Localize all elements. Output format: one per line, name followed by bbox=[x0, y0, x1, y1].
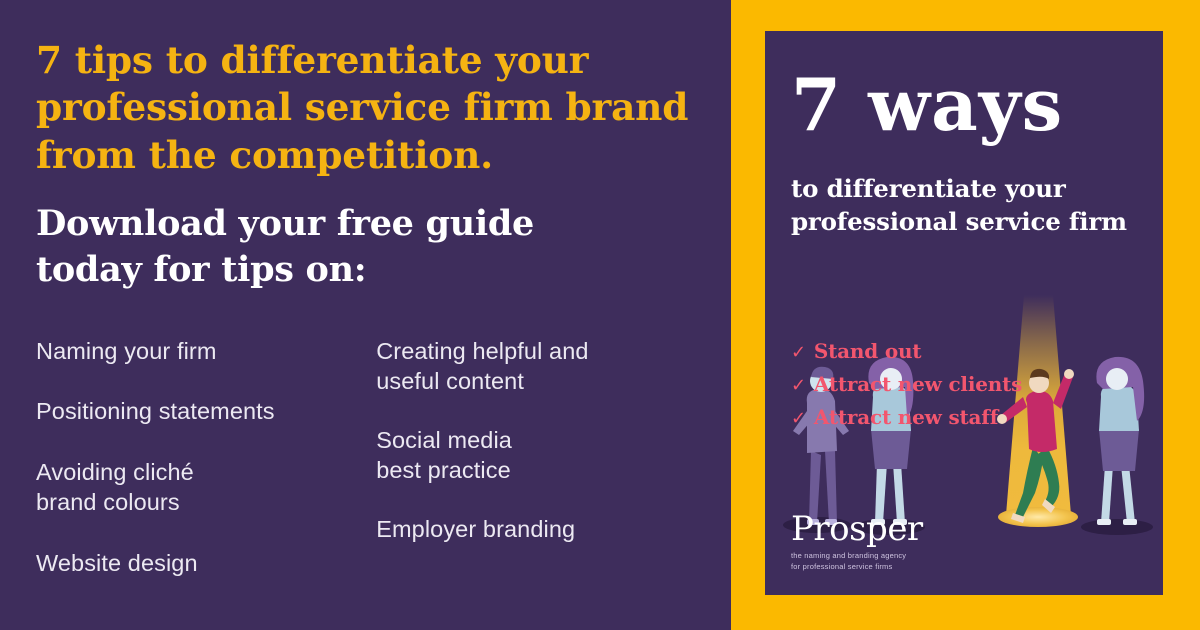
tips-column-right: Creating helpful anduseful content Socia… bbox=[376, 336, 697, 609]
call-to-action-subheading: Download your free guide today for tips … bbox=[36, 201, 596, 294]
list-item: ✓ Attract new staff bbox=[791, 407, 1137, 428]
cover-subtitle: to differentiate your professional servi… bbox=[791, 173, 1137, 239]
guide-cover-image: 7 ways to differentiate your professiona… bbox=[765, 31, 1163, 595]
benefit-label: Attract new clients bbox=[814, 374, 1022, 394]
tips-list: Naming your firm Positioning statements … bbox=[36, 336, 697, 609]
left-content-panel: 7 tips to differentiate your professiona… bbox=[0, 0, 731, 630]
check-icon: ✓ bbox=[791, 344, 806, 362]
list-item: Employer branding bbox=[376, 514, 697, 545]
page-title: 7 tips to differentiate your professiona… bbox=[36, 37, 696, 179]
list-item: Social mediabest practice bbox=[376, 425, 697, 486]
logo-tagline: the naming and branding agencyfor profes… bbox=[791, 551, 923, 573]
benefit-label: Stand out bbox=[814, 341, 921, 361]
cover-benefits-list: ✓ Stand out ✓ Attract new clients ✓ Attr… bbox=[791, 341, 1137, 428]
tips-column-left: Naming your firm Positioning statements … bbox=[36, 336, 376, 609]
list-item: ✓ Stand out bbox=[791, 341, 1137, 362]
list-item: ✓ Attract new clients bbox=[791, 374, 1137, 395]
list-item: Avoiding clichébrand colours bbox=[36, 457, 376, 518]
cover-title: 7 ways bbox=[791, 69, 1137, 141]
check-icon: ✓ bbox=[791, 377, 806, 395]
prosper-logo: Prosper the naming and branding agencyfo… bbox=[791, 512, 923, 573]
list-item: Website design bbox=[36, 548, 376, 579]
list-item: Naming your firm bbox=[36, 336, 376, 367]
list-item: Creating helpful anduseful content bbox=[376, 336, 697, 397]
promo-banner: 7 tips to differentiate your professiona… bbox=[0, 0, 1200, 630]
list-item: Positioning statements bbox=[36, 396, 376, 427]
benefit-label: Attract new staff bbox=[814, 407, 998, 427]
logo-wordmark: Prosper bbox=[791, 512, 923, 546]
check-icon: ✓ bbox=[791, 410, 806, 428]
